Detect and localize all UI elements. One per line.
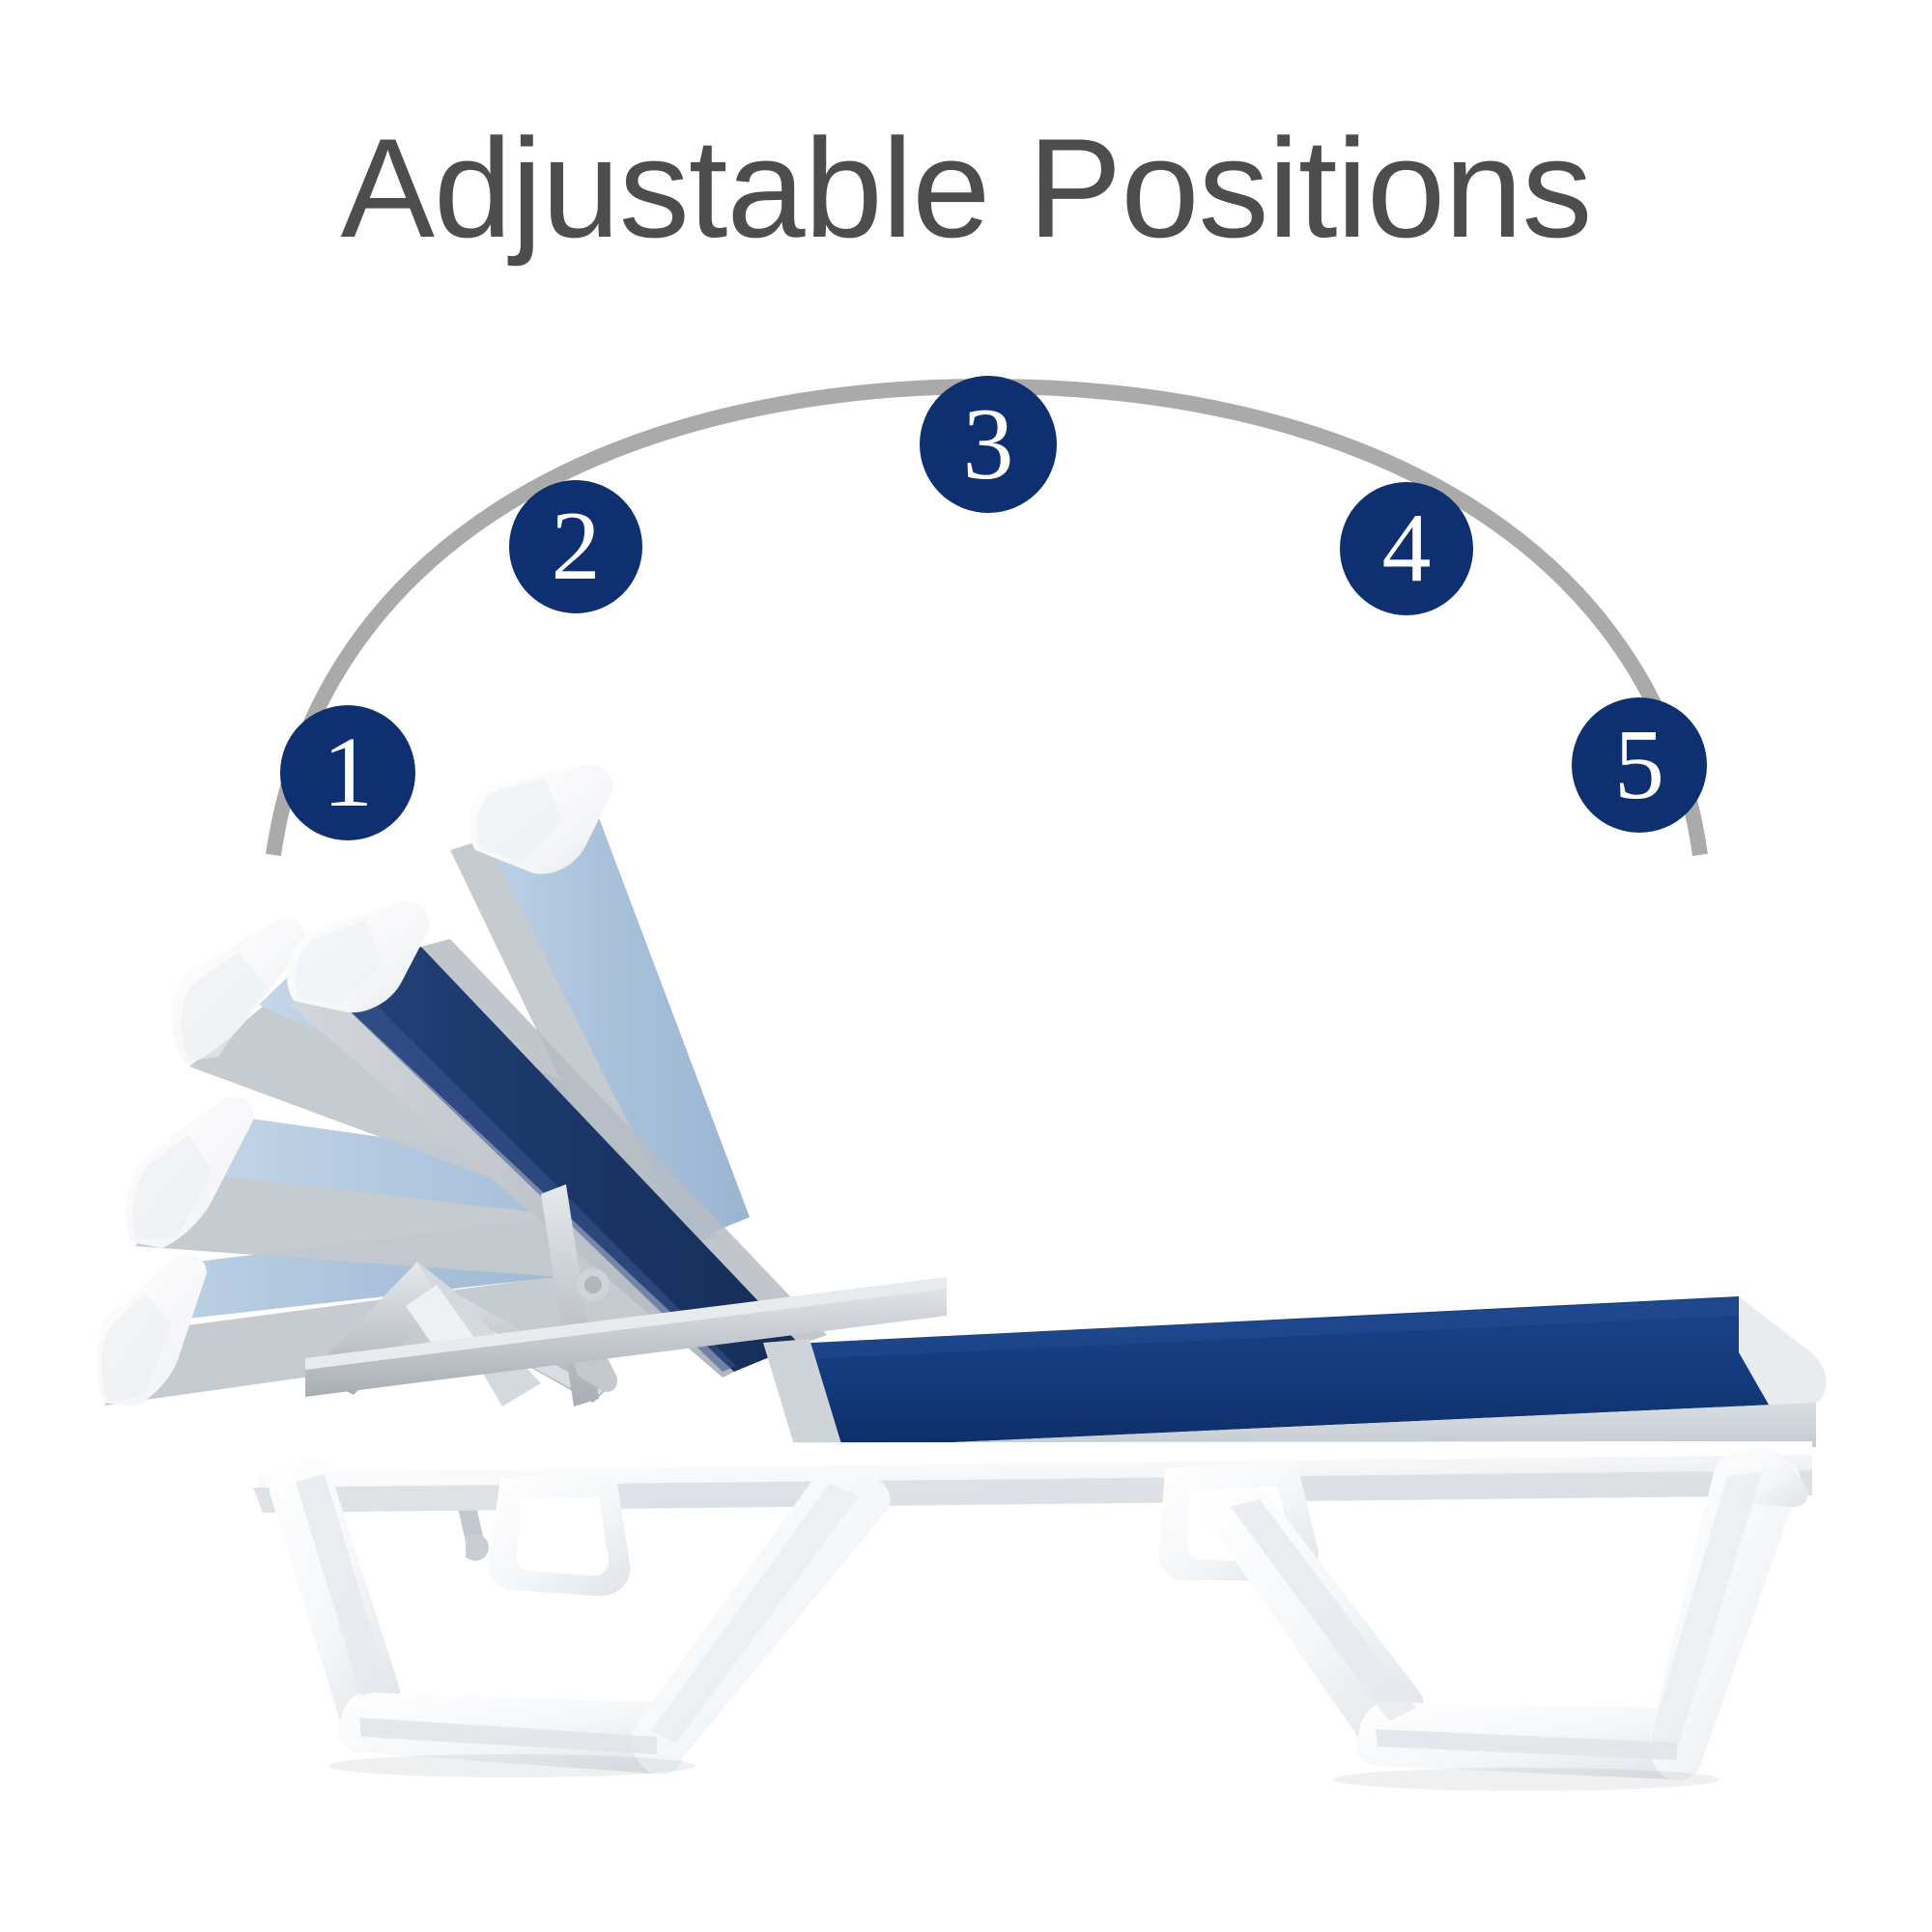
position-badge-3-label: 3: [963, 393, 1014, 496]
position-badge-4[interactable]: 4: [1340, 482, 1473, 615]
position-badge-2[interactable]: 2: [509, 480, 642, 613]
position-badge-2-label: 2: [552, 497, 601, 596]
product-illustration: [0, 0, 1932, 1932]
position-badge-5-label: 5: [1614, 715, 1664, 815]
position-badge-5[interactable]: 5: [1572, 697, 1707, 833]
infographic-canvas: Adjustable Positions: [0, 0, 1932, 1932]
position-badge-1-label: 1: [323, 723, 373, 823]
position-badge-3[interactable]: 3: [920, 376, 1057, 513]
front-frame-rail: [253, 1441, 1812, 1513]
position-badge-1[interactable]: 1: [280, 705, 415, 840]
position-badge-4-label: 4: [1382, 499, 1432, 598]
